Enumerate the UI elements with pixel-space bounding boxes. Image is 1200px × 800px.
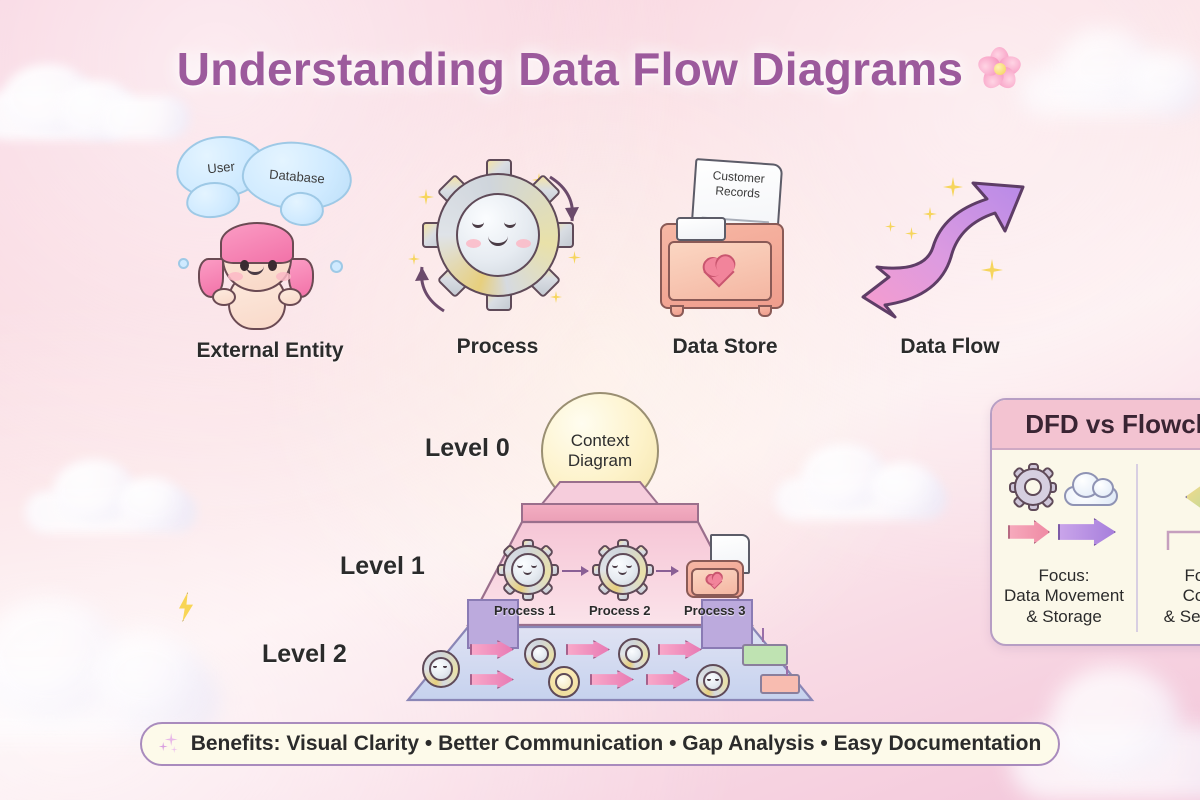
sparkle-icon bbox=[159, 732, 181, 756]
level2-pink-node bbox=[760, 674, 800, 694]
level-1-label: Level 1 bbox=[340, 552, 425, 581]
compare-caption-flowchart-line3: & Sequence bbox=[1138, 607, 1200, 627]
flower-icon bbox=[977, 46, 1023, 92]
level1-data-store-process-3 bbox=[682, 534, 754, 600]
legend-label-process: Process bbox=[400, 335, 595, 359]
compare-column-dfd: Focus: Data Movement & Storage bbox=[992, 452, 1136, 646]
compare-caption-dfd-line1: Focus: bbox=[992, 566, 1136, 586]
level1-label-process-1: Process 1 bbox=[494, 603, 555, 618]
speech-bubble-user-label: User bbox=[207, 158, 236, 176]
girl-blush-left bbox=[228, 272, 243, 281]
level-2-label: Level 2 bbox=[262, 640, 347, 669]
box-foot-left bbox=[670, 305, 684, 317]
page-title-text: Understanding Data Flow Diagrams bbox=[177, 42, 964, 96]
level2-green-node bbox=[742, 644, 788, 666]
gear-icon bbox=[1012, 466, 1054, 508]
compare-caption-dfd-line3: & Storage bbox=[992, 607, 1136, 627]
benefits-banner-text: Benefits: Visual Clarity • Better Commun… bbox=[191, 732, 1042, 756]
legend-item-data-flow: Data Flow bbox=[855, 155, 1045, 359]
level1-arrow-2 bbox=[656, 570, 678, 572]
legend-item-external-entity: User Database External Entity bbox=[170, 130, 370, 363]
dfd-vs-flowchart-card: DFD vs Flowchart bbox=[990, 398, 1200, 646]
file-folder-tab bbox=[676, 217, 726, 241]
bubble-dot-medium bbox=[330, 260, 343, 273]
compare-caption-dfd: Focus: Data Movement & Storage bbox=[992, 566, 1136, 627]
dfd-level-pyramid: Context Diagram bbox=[300, 400, 920, 710]
legend-item-process: Process bbox=[400, 155, 595, 359]
level1-label-process-3: Process 3 bbox=[684, 603, 745, 618]
compare-caption-flowchart-line1: Focus: bbox=[1138, 566, 1200, 586]
cloud-icon bbox=[1064, 472, 1118, 506]
box-foot-right bbox=[758, 305, 772, 317]
compare-caption-dfd-line2: Data Movement bbox=[992, 586, 1136, 606]
purple-arrow-icon bbox=[1058, 518, 1116, 546]
girl-eye-right bbox=[268, 260, 277, 271]
legend-label-external-entity: External Entity bbox=[170, 339, 370, 363]
flowchart-connector-icon bbox=[1138, 514, 1200, 564]
girl-arm-left bbox=[212, 288, 236, 306]
cloud-mid-left bbox=[25, 455, 205, 533]
decision-diamond-icon bbox=[1185, 480, 1200, 514]
compare-card-heading: DFD vs Flowchart bbox=[992, 400, 1200, 450]
speech-bubble-database-label: Database bbox=[269, 166, 326, 186]
level1-gear-process-2 bbox=[595, 542, 651, 598]
page-title: Understanding Data Flow Diagrams bbox=[0, 42, 1200, 96]
benefits-banner: Benefits: Visual Clarity • Better Commun… bbox=[140, 722, 1060, 766]
legend-item-data-store: Customer Records Data Store bbox=[630, 155, 820, 359]
level-0-label: Level 0 bbox=[425, 434, 510, 463]
infographic-canvas: Understanding Data Flow Diagrams User Da… bbox=[0, 0, 1200, 800]
legend-label-data-store: Data Store bbox=[630, 335, 820, 359]
bubble-dot-small bbox=[178, 258, 189, 269]
compare-caption-flowchart: Focus: Control & Sequence bbox=[1138, 566, 1200, 627]
cloud-bottom-left bbox=[0, 590, 240, 740]
legend-label-data-flow: Data Flow bbox=[855, 335, 1045, 359]
pink-arrow-icon bbox=[1008, 520, 1050, 544]
data-flow-arrow-icon bbox=[855, 155, 1045, 335]
girl-blush-right bbox=[276, 272, 291, 281]
girl-hair bbox=[220, 222, 294, 264]
compare-caption-flowchart-line2: Control bbox=[1138, 586, 1200, 606]
lightning-bolt-icon bbox=[175, 592, 197, 622]
girl-arm-right bbox=[278, 288, 302, 306]
level2-detail-cluster bbox=[420, 632, 810, 698]
level1-arrow-1 bbox=[562, 570, 588, 572]
level1-label-process-2: Process 2 bbox=[589, 603, 650, 618]
compare-column-flowchart: Focus: Control & Sequence bbox=[1138, 452, 1200, 646]
level1-gear-process-1 bbox=[500, 542, 556, 598]
rotation-arrow-icon bbox=[400, 155, 595, 335]
